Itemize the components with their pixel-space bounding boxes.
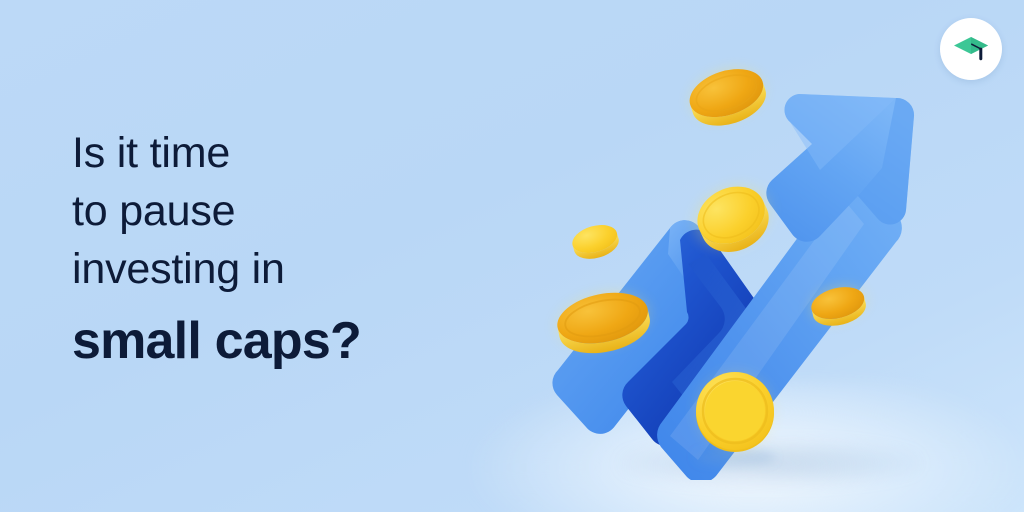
headline-line-4: small caps? [72, 304, 502, 378]
illustration-rising-arrow [520, 40, 960, 480]
coin-left-small [569, 220, 622, 263]
small-caps-banner: Is it time to pause investing in small c… [0, 0, 1024, 512]
headline: Is it time to pause investing in small c… [72, 124, 502, 378]
headline-line-1: Is it time [72, 124, 502, 182]
coin-top [676, 53, 778, 137]
headline-line-2: to pause [72, 182, 502, 240]
headline-line-3: investing in [72, 240, 502, 298]
